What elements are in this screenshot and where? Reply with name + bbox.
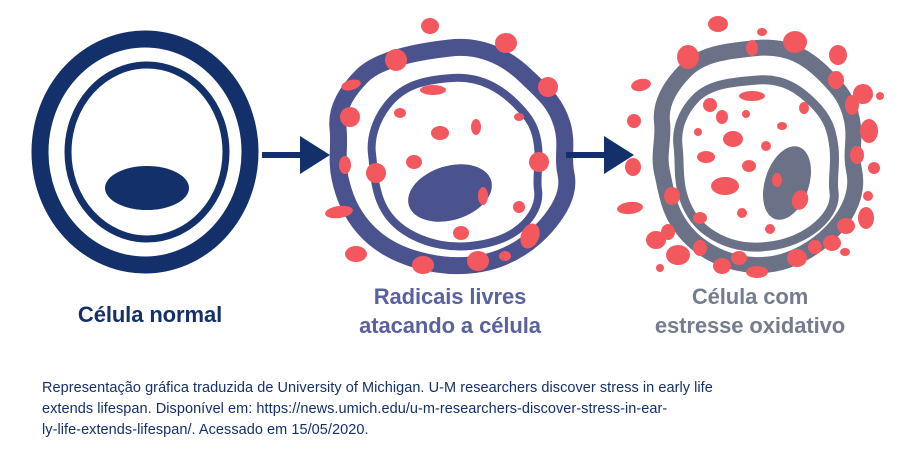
label-stress-line2: estresse oxidativo — [600, 311, 900, 340]
label-normal-cell: Célula normal — [0, 282, 300, 329]
arrow-2 — [566, 136, 634, 174]
cell-diagram-stage — [0, 0, 900, 280]
source-credit-line1: Representação gráfica traduzida de Unive… — [42, 378, 870, 399]
label-radicals-line2: atacando a célula — [300, 311, 600, 340]
label-normal-cell-line1: Célula normal — [0, 300, 300, 329]
arrow-1-head — [300, 136, 330, 174]
label-stress-line1: Célula com — [600, 282, 900, 311]
source-credit-line2: extends lifespan. Disponível em: https:/… — [42, 399, 870, 420]
stress-cell-nucleus — [754, 140, 819, 226]
normal-cell-inner-membrane — [68, 65, 226, 239]
radicals-cell-graphic — [324, 18, 567, 274]
label-radicals-attacking: Radicais livres atacando a célula — [300, 282, 600, 340]
stress-cell-graphic — [616, 16, 884, 278]
radicals-cell-inner-membrane — [372, 78, 539, 247]
label-radicals-line1: Radicais livres — [300, 282, 600, 311]
normal-cell-nucleus — [105, 166, 189, 210]
oxidative-stress-figure: Célula normal Radicais livres atacando a… — [0, 0, 900, 473]
normal-cell-graphic — [40, 39, 250, 265]
panel-labels: Célula normal Radicais livres atacando a… — [0, 282, 900, 362]
source-credit-line3: ly-life-extends-lifespan/. Acessado em 1… — [42, 420, 870, 441]
source-credit: Representação gráfica traduzida de Unive… — [42, 378, 870, 441]
label-oxidative-stress: Célula com estresse oxidativo — [600, 282, 900, 340]
arrow-1 — [262, 136, 330, 174]
